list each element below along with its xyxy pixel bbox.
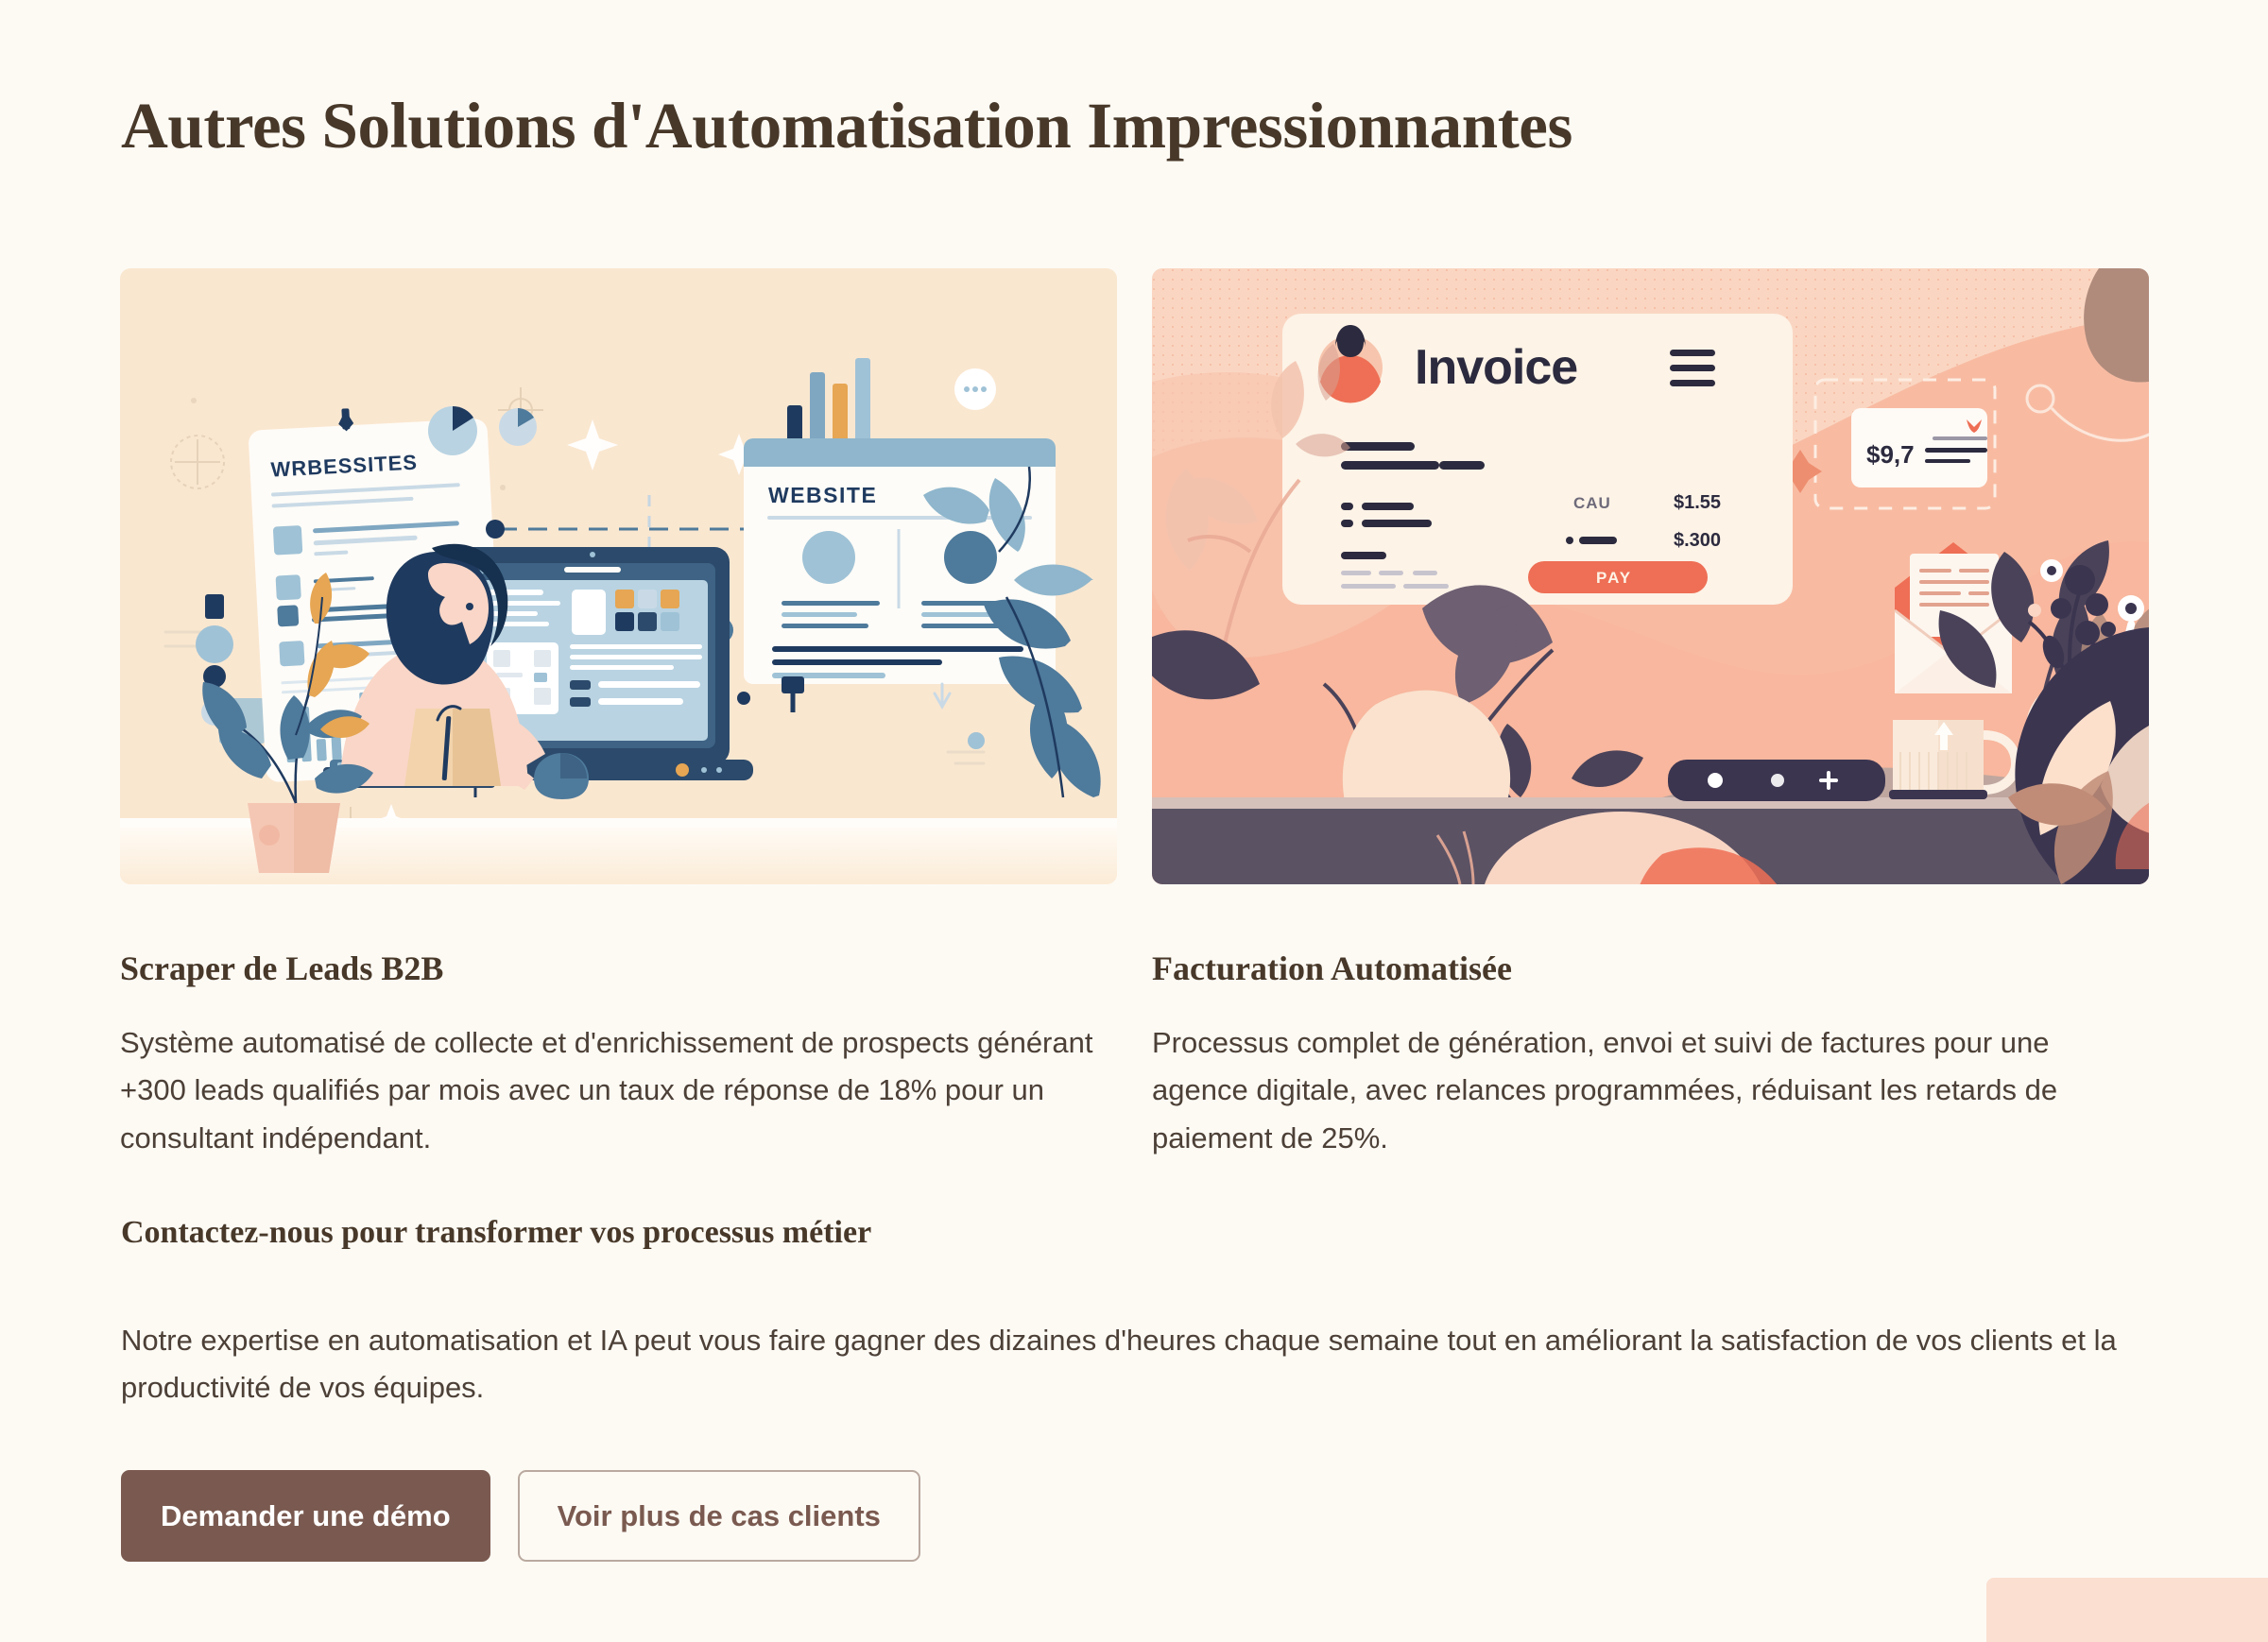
cta-actions: Demander une démo Voir plus de cas clien… [121, 1470, 2149, 1562]
solution-card-lead-scraper[interactable]: WRBESSITES [120, 268, 1117, 1162]
page-title: Autres Solutions d'Automatisation Impres… [121, 91, 1572, 162]
lead-scraper-artwork: WRBESSITES [120, 268, 1117, 884]
solutions-card-grid: WRBESSITES [120, 268, 2149, 1162]
invoice-line-label: CAU [1573, 494, 1611, 512]
invoice-title-label: Invoice [1415, 340, 1577, 395]
hamburger-menu-icon [1670, 350, 1715, 386]
card-body-lead-scraper: Système automatisé de collecte et d'enri… [120, 1019, 1103, 1162]
next-section-peach-strip [1986, 1578, 2268, 1642]
card-title-lead-scraper: Scraper de Leads B2B [120, 949, 1117, 989]
cta-body: Notre expertise en automatisation et IA … [121, 1317, 2124, 1411]
automated-invoicing-illustration: Invoice [1152, 268, 2149, 884]
browser-window-label: WEBSITE [768, 483, 877, 507]
card-title-invoicing: Facturation Automatisée [1152, 949, 2149, 989]
request-demo-button[interactable]: Demander une démo [121, 1470, 490, 1562]
view-more-cases-button[interactable]: Voir plus de cas clients [518, 1470, 920, 1562]
invoice-total-amount: $.300 [1674, 530, 1721, 551]
cta-title: Contactez-nous pour transformer vos proc… [121, 1214, 2149, 1253]
cta-section: Contactez-nous pour transformer vos proc… [121, 1214, 2149, 1562]
card-body-invoicing: Processus complet de génération, envoi e… [1152, 1019, 2135, 1162]
automated-invoicing-artwork: Invoice [1152, 268, 2149, 884]
invoice-line-amount: $1.55 [1674, 492, 1721, 513]
notification-amount: $9,7 [1866, 440, 1915, 469]
pay-button-label: PAY [1596, 569, 1632, 587]
lead-scraper-illustration: WRBESSITES [120, 268, 1117, 884]
solution-card-invoicing[interactable]: Invoice [1152, 268, 2149, 1162]
page-root: Autres Solutions d'Automatisation Impres… [0, 0, 2268, 1642]
